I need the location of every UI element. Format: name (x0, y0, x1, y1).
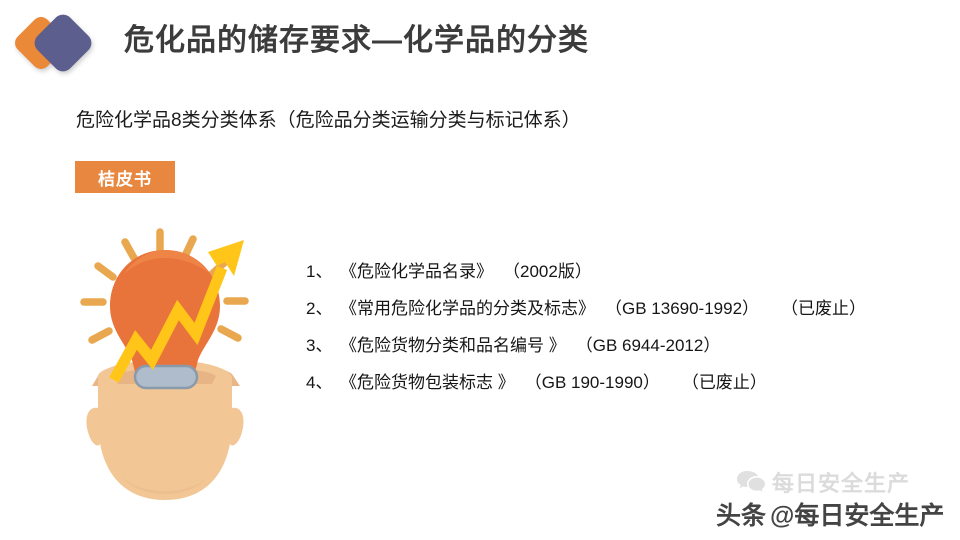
watermark-brand: 头条 (716, 496, 766, 532)
list-item-code: （GB 190-1990） (515, 364, 660, 401)
wechat-logo-icon (736, 469, 766, 495)
right-ear (230, 408, 244, 446)
list-item-title: 《危险货物包装标志 》 (340, 364, 515, 401)
list-item-index: 4、 (306, 364, 340, 401)
watermark-secondary: 每日安全生产 (736, 466, 910, 498)
list-item-code: （GB 13690-1992） (595, 290, 759, 327)
list-item-title: 《危险货物分类和品名编号 》 (340, 327, 566, 364)
list-item-title: 《常用危险化学品的分类及标志》 (340, 290, 595, 327)
subtitle-text: 危险化学品8类分类体系（危险品分类运输分类与标记体系） (76, 107, 581, 135)
list-item-code: （GB 6944-2012） (566, 327, 721, 364)
slide-canvas: 危化品的储存要求—化学品的分类 危险化学品8类分类体系（危险品分类运输分类与标记… (0, 0, 960, 540)
head-with-idea-lightbulb-illustration (62, 208, 302, 508)
list-item: 1、《危险化学品名录》（2002版） (306, 253, 946, 290)
page-title: 危化品的储存要求—化学品的分类 (124, 21, 589, 61)
standards-list: 1、《危险化学品名录》（2002版） 2、《常用危险化学品的分类及标志》（GB … (306, 253, 946, 401)
watermark-primary: 头条 @每日安全生产 (716, 496, 944, 532)
left-ear (86, 408, 100, 446)
list-item: 3、《危险货物分类和品名编号 》（GB 6944-2012） (306, 327, 946, 364)
orange-book-tag-label: 桔皮书 (98, 165, 152, 190)
watermark-secondary-text: 每日安全生产 (772, 466, 910, 498)
list-item-index: 3、 (306, 327, 340, 364)
list-item: 4、《危险货物包装标志 》（GB 190-1990）（已废止） (306, 364, 946, 401)
slide-header: 危化品的储存要求—化学品的分类 (0, 0, 960, 90)
list-item-status: （已废止） (759, 290, 866, 327)
list-item-status: （已废止） (660, 364, 767, 401)
double-diamond-icon (14, 8, 110, 82)
list-item-title: 《危险化学品名录》 (340, 253, 493, 290)
orange-book-tag: 桔皮书 (75, 161, 175, 193)
list-item-code: （2002版） (493, 253, 592, 290)
watermark-handle: @每日安全生产 (770, 496, 944, 532)
list-item-index: 2、 (306, 290, 340, 327)
bulb-base-collar (135, 366, 197, 388)
list-item: 2、《常用危险化学品的分类及标志》（GB 13690-1992）（已废止） (306, 290, 946, 327)
list-item-index: 1、 (306, 253, 340, 290)
